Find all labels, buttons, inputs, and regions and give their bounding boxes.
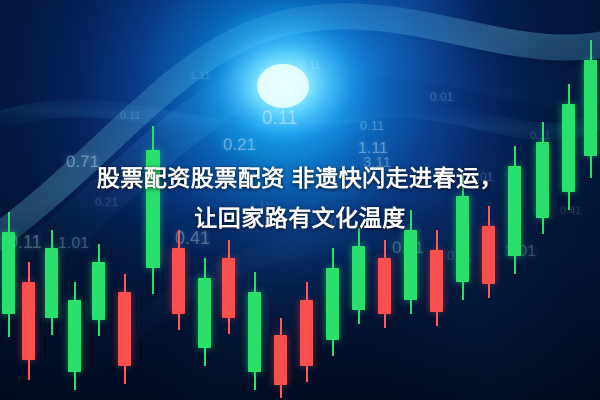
headline-line-2: 让回家路有文化温度	[0, 198, 600, 238]
candlestick-body	[222, 258, 235, 318]
candlestick-body	[584, 60, 597, 156]
headline: 股票配资股票配资 非遗快闪走进春运， 让回家路有文化温度	[0, 158, 600, 238]
candlestick-body	[118, 292, 131, 366]
headline-line-1: 股票配资股票配资 非遗快闪走进春运，	[0, 158, 600, 198]
candlestick-body	[404, 230, 417, 300]
candlestick-body	[352, 246, 365, 310]
candlestick-body	[198, 278, 211, 348]
candlestick-body	[378, 258, 391, 314]
candlestick-body	[92, 262, 105, 320]
candlestick-body	[248, 292, 261, 372]
candlestick-body	[172, 248, 185, 314]
candlestick-body	[274, 335, 287, 385]
candlestick-body	[2, 232, 15, 314]
candlestick-body	[45, 248, 58, 318]
promo-banner-image: 0.110.211.110.113.110.710.111.010.410.11…	[0, 0, 600, 400]
candlestick-body	[430, 250, 443, 312]
candlestick-body	[326, 268, 339, 340]
candlestick-body	[300, 300, 313, 366]
candlestick-body	[22, 282, 35, 360]
candlestick-body	[68, 300, 81, 372]
